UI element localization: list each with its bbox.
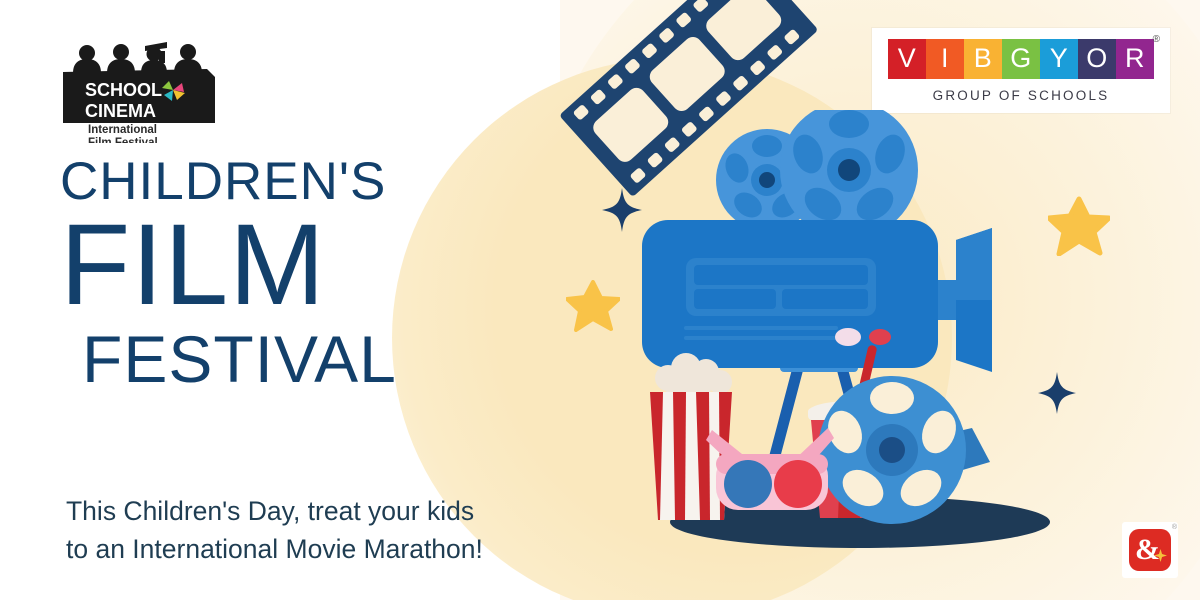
vibgyor-letter-g: G: [1002, 39, 1040, 79]
projector-reel-large: [780, 110, 918, 239]
logo-children-silhouettes: [73, 42, 202, 73]
glasses-lens-right: [774, 460, 822, 508]
subtitle-block: This Children's Day, treat your kids to …: [66, 492, 586, 569]
vibgyor-letter-row: V I B G Y O R: [888, 39, 1154, 79]
vibgyor-letter-o: O: [1078, 39, 1116, 79]
headline-line-film: FILM: [60, 210, 530, 322]
vibgyor-letter-b: B: [964, 39, 1002, 79]
star-yellow-1: [566, 280, 620, 332]
logo-word-cinema: CINEMA: [85, 101, 156, 121]
logo-tagline-line1: International: [88, 124, 157, 136]
ampersand-glyph: &: [1135, 535, 1160, 565]
vibgyor-letter-v: V: [888, 39, 926, 79]
vibgyor-subtitle: GROUP OF SCHOOLS: [933, 88, 1110, 103]
vibgyor-letter-r: R: [1116, 39, 1154, 79]
ampersand-registered-mark: ®: [1172, 524, 1177, 531]
logo-tagline-line2: Film Festival: [88, 137, 158, 143]
cinema-illustration: [620, 110, 1090, 560]
vibgyor-letter-i: I: [926, 39, 964, 79]
projector-button-light: [835, 328, 861, 346]
logo-word-school: SCHOOL: [85, 80, 162, 100]
ampersand-logo-tile: &: [1129, 529, 1171, 571]
subtitle-line-2: to an International Movie Marathon!: [66, 530, 586, 568]
vibgyor-registered-mark: ®: [1153, 34, 1160, 45]
projector-button-red: [869, 329, 891, 345]
school-cinema-logo: SCHOOL CINEMA International Film Festiva…: [55, 28, 225, 143]
headline-line-festival: FESTIVAL: [82, 326, 530, 392]
glasses-lens-left: [724, 460, 772, 508]
vibgyor-logo: ® V I B G Y O R GROUP OF SCHOOLS: [872, 28, 1170, 113]
projector-lens: [930, 228, 992, 372]
subtitle-line-1: This Children's Day, treat your kids: [66, 492, 586, 530]
vibgyor-letter-y: Y: [1040, 39, 1078, 79]
ampersand-brand-logo: & ®: [1122, 522, 1178, 578]
promotional-banner: SCHOOL CINEMA International Film Festiva…: [0, 0, 1200, 600]
headline-block: CHILDREN'S FILM FESTIVAL: [60, 155, 530, 392]
